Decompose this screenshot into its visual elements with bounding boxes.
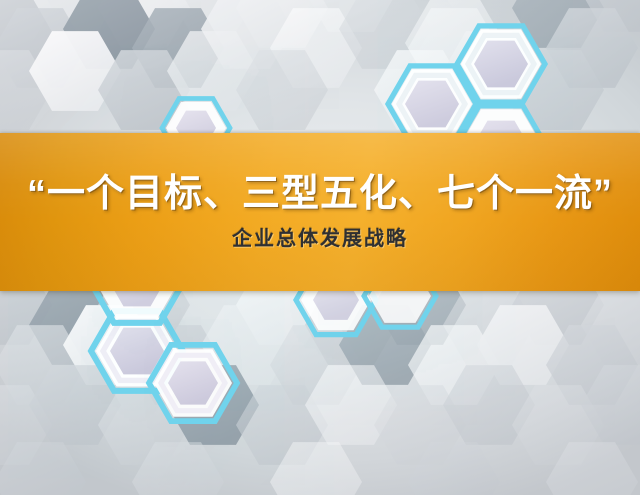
title-banner: “一个目标、三型五化、七个一流” 企业总体发展战略 xyxy=(0,133,640,291)
page-title: “一个目标、三型五化、七个一流” xyxy=(19,174,621,214)
title-slide: “一个目标、三型五化、七个一流” 企业总体发展战略 xyxy=(0,0,640,495)
page-subtitle: 企业总体发展战略 xyxy=(232,228,408,250)
